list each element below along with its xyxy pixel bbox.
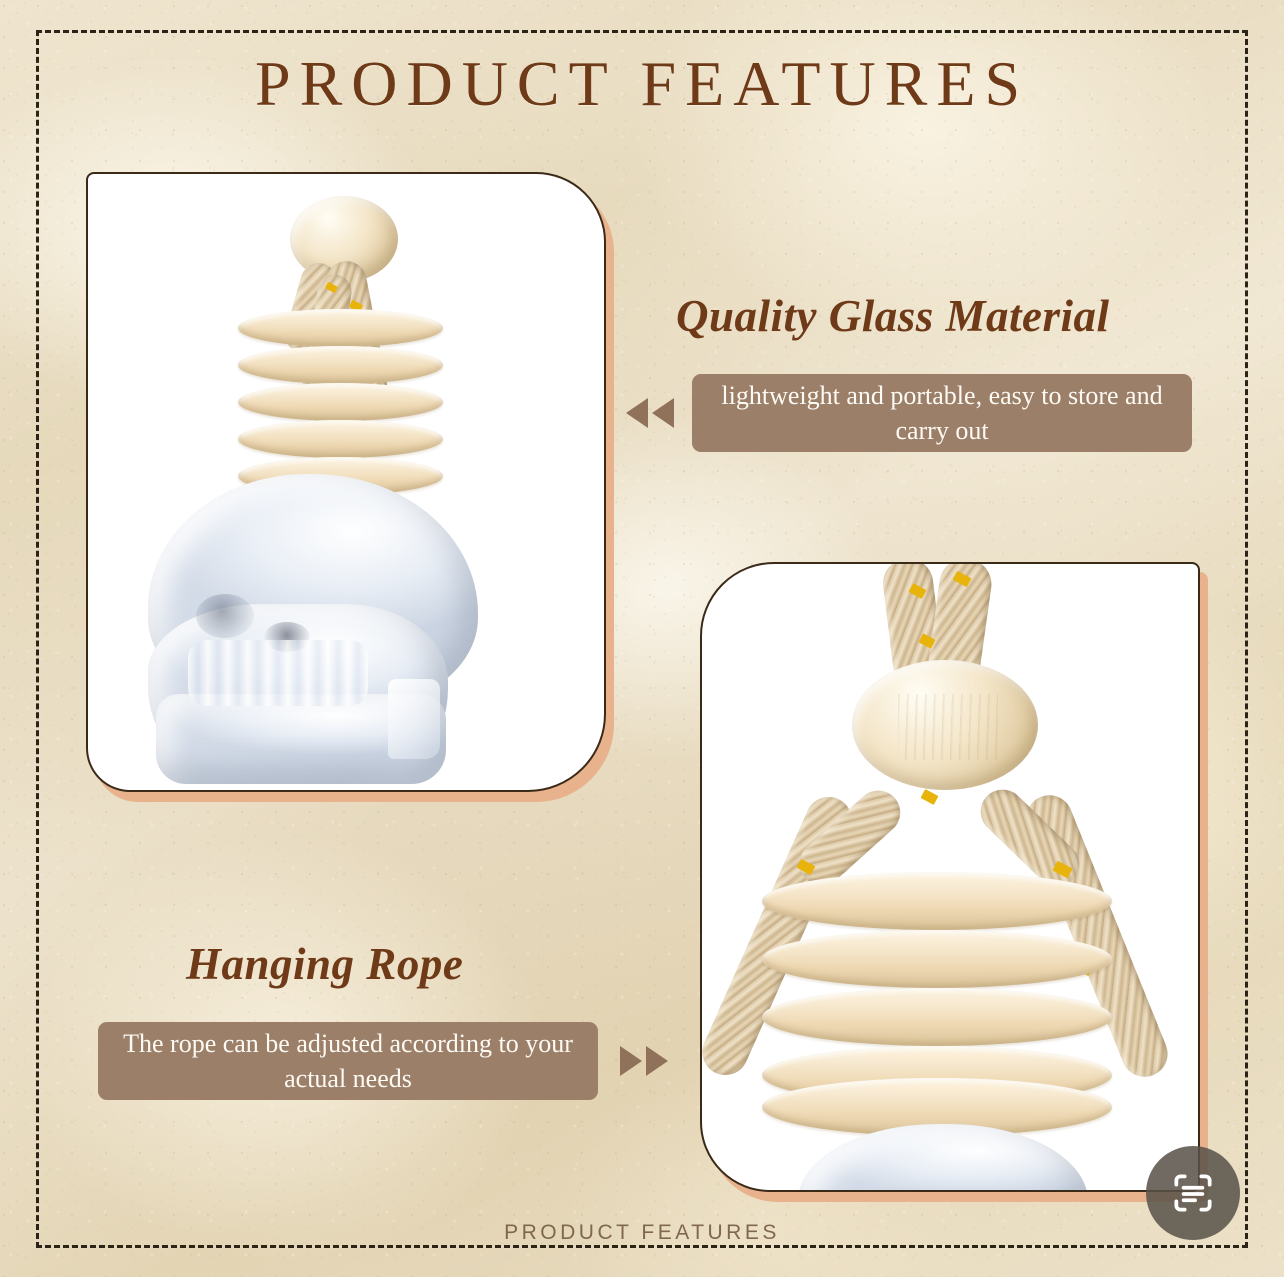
product-photo-rope-closeup [702,564,1198,1190]
feature-image-card-hanging-rope [700,562,1200,1192]
wooden-cap-ring [762,930,1112,988]
glass-skull-side-facet [388,679,440,759]
chevron-left-icon [652,398,674,428]
arrow-pointer-right [620,1046,668,1076]
feature-heading-quality-glass: Quality Glass Material [676,290,1110,342]
chevron-right-icon [646,1046,668,1076]
wooden-bead-grain [898,694,998,760]
scan-text-icon [1168,1168,1218,1218]
chevron-left-icon [626,398,648,428]
chevron-right-icon [620,1046,642,1076]
glass-skull-eye-socket [196,594,254,638]
glass-bottle-shoulder [798,1124,1088,1192]
feature-callout-quality-glass: lightweight and portable, easy to store … [692,374,1192,452]
product-photo-skull-bottle [88,174,604,790]
arrow-pointer-left [626,398,674,428]
feature-callout-hanging-rope: The rope can be adjusted according to yo… [98,1022,598,1100]
rope-gold-fleck [921,789,939,805]
scan-text-button[interactable] [1146,1146,1240,1240]
wooden-cap-ring [762,988,1112,1046]
footer-caption: PRODUCT FEATURES [0,1221,1284,1245]
product-features-infographic: PRODUCT FEATURES [0,0,1284,1277]
feature-image-card-quality-glass [86,172,606,792]
feature-heading-hanging-rope: Hanging Rope [186,938,463,990]
wooden-cap-ring [238,346,443,384]
page-title: PRODUCT FEATURES [0,47,1284,121]
wooden-cap-ring [238,309,443,347]
wooden-cap-ring [762,872,1112,930]
glass-skull-teeth [188,640,368,706]
wooden-cap-ring [238,383,443,421]
wooden-cap-ring [238,420,443,458]
